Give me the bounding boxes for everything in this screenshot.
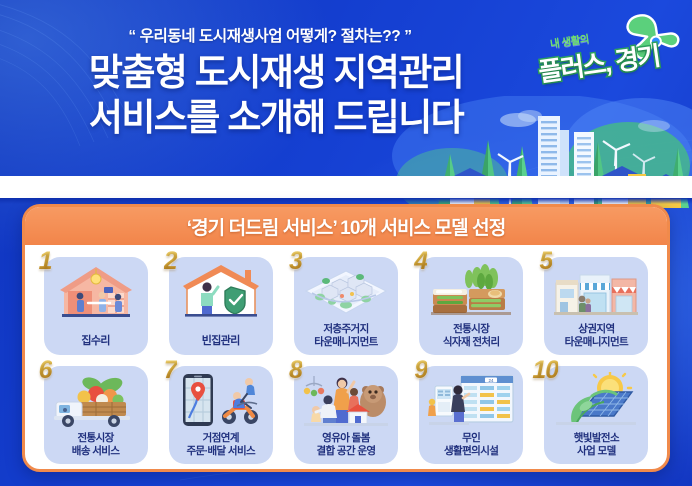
delivery-truck-icon <box>52 372 140 432</box>
service-label-5-line2: 타운매니지먼트 <box>565 336 628 348</box>
service-number-4: 4 <box>414 247 427 276</box>
low-rise-village-icon <box>302 263 390 323</box>
service-label-3-line2: 타운매니지먼트 <box>314 336 377 348</box>
services-panel: ‘경기 더드림 서비스’ 10개 서비스 모델 선정 1 <box>22 204 670 472</box>
shopping-street-icon <box>552 263 640 323</box>
service-number-6: 6 <box>39 356 52 385</box>
service-tile-shopping-street[interactable]: 5 <box>544 257 648 355</box>
header-subtitle: “ 우리동네 도시재생사업 어떻게? 절차는?? ” <box>0 24 540 46</box>
service-label-6: 전통시장 배송 서비스 <box>44 432 148 457</box>
brand-logo: 내 생활의 플러스, 경기 <box>530 12 680 84</box>
service-number-9: 9 <box>414 356 427 385</box>
service-cell-2: 2 빈집관리 <box>160 251 281 358</box>
service-label-10: 햇빛발전소 사업 모델 <box>544 432 648 457</box>
service-tile-fresh-produce[interactable]: 4 <box>419 257 523 355</box>
unmanned-kiosk-icon: 24 <box>427 372 515 432</box>
service-cell-3: 3 <box>285 251 406 358</box>
service-label-6-line1: 전통시장 <box>77 432 113 444</box>
service-number-3: 3 <box>289 247 302 276</box>
service-cell-1: 1 <box>35 251 156 358</box>
header-divider-band <box>0 176 692 198</box>
service-label-5: 상권지역 타운매니지먼트 <box>544 323 648 348</box>
service-label-6-line2: 배송 서비스 <box>72 445 120 457</box>
service-label-5-line1: 상권지역 <box>578 323 614 335</box>
service-number-5: 5 <box>539 247 552 276</box>
service-cell-5: 5 <box>536 251 657 358</box>
fresh-produce-icon <box>427 263 515 323</box>
service-tile-order-delivery[interactable]: 7 <box>169 366 273 464</box>
service-cell-10: 10 <box>536 360 657 467</box>
service-number-1: 1 <box>39 247 52 276</box>
service-tile-delivery-truck[interactable]: 6 <box>44 366 148 464</box>
service-label-4-line1: 전통시장 <box>453 323 489 335</box>
service-label-3: 저층주거지 타운매니지먼트 <box>294 323 398 348</box>
service-label-8-line1: 영유아 돌봄 <box>322 432 370 444</box>
service-cell-6: 6 <box>35 360 156 467</box>
service-cell-8: 8 <box>285 360 406 467</box>
panel-header-bar: ‘경기 더드림 서비스’ 10개 서비스 모델 선정 <box>25 207 667 245</box>
service-label-3-line1: 저층주거지 <box>323 323 368 335</box>
phone-map-scooter-icon <box>177 372 265 432</box>
service-number-10: 10 <box>532 356 558 385</box>
service-label-9-line2: 생활편의시설 <box>444 445 498 457</box>
service-number-2: 2 <box>164 247 177 276</box>
headline-line-1: 맞춤형 도시재생 지역관리 <box>0 50 552 95</box>
service-tile-unmanned-kiosk[interactable]: 9 24 <box>419 366 523 464</box>
service-cell-9: 9 24 <box>411 360 532 467</box>
empty-house-shield-icon <box>177 263 265 323</box>
service-label-1: 집수리 <box>44 335 148 348</box>
childcare-space-icon <box>302 372 390 432</box>
service-label-8: 영유아 돌봄 결합 공간 운영 <box>294 432 398 457</box>
service-label-7-line1: 거점연계 <box>203 432 239 444</box>
service-number-8: 8 <box>289 356 302 385</box>
service-number-7: 7 <box>164 356 177 385</box>
service-label-10-line1: 햇빛발전소 <box>574 432 619 444</box>
panel-title: ‘경기 더드림 서비스’ 10개 서비스 모델 선정 <box>187 213 506 240</box>
service-cell-7: 7 <box>160 360 281 467</box>
service-label-9-line1: 무인 <box>462 432 480 444</box>
service-tile-solar-plant[interactable]: 10 <box>544 366 648 464</box>
service-cell-4: 4 <box>411 251 532 358</box>
solar-panel-icon <box>552 372 640 432</box>
svg-text:24: 24 <box>489 378 494 383</box>
service-label-7: 거점연계 주문·배달 서비스 <box>169 432 273 457</box>
headline-line-2: 서비스를 소개해 드립니다 <box>0 95 552 140</box>
service-label-10-line2: 사업 모델 <box>577 445 616 457</box>
service-label-2: 빈집관리 <box>169 335 273 348</box>
service-label-7-line2: 주문·배달 서비스 <box>186 445 255 457</box>
service-label-4-line2: 식자재 전처리 <box>443 336 500 348</box>
service-label-9: 무인 생활편의시설 <box>419 432 523 457</box>
service-tile-empty-house[interactable]: 2 빈집관리 <box>169 257 273 355</box>
service-tile-childcare-space[interactable]: 8 <box>294 366 398 464</box>
house-repair-icon <box>52 263 140 323</box>
service-tile-low-rise-village[interactable]: 3 <box>294 257 398 355</box>
service-tile-house-repair[interactable]: 1 <box>44 257 148 355</box>
service-label-4: 전통시장 식자재 전처리 <box>419 323 523 348</box>
service-label-8-line2: 결합 공간 운영 <box>316 445 375 457</box>
page-title: 맞춤형 도시재생 지역관리 서비스를 소개해 드립니다 <box>0 50 552 140</box>
services-grid: 1 <box>25 245 667 472</box>
